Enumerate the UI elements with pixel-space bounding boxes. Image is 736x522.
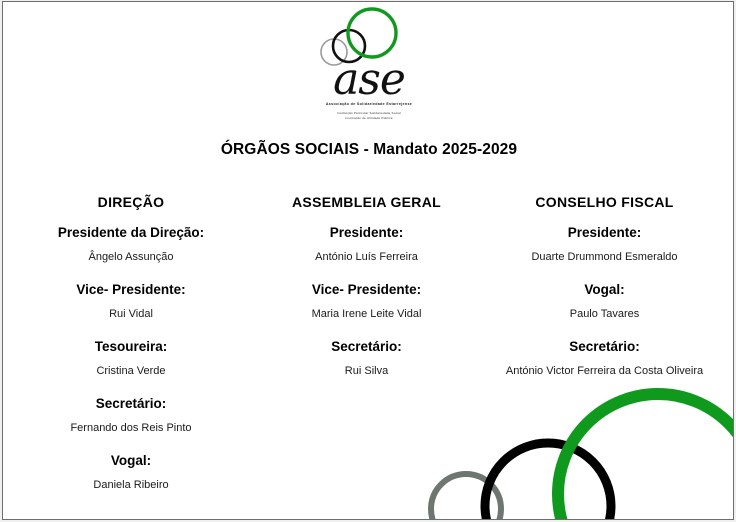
- role-label: Presidente:: [259, 225, 474, 240]
- person-name: Cristina Verde: [3, 365, 259, 377]
- role-entry: Vogal: Daniela Ribeiro: [3, 453, 259, 491]
- role-label: Secretário:: [474, 339, 734, 354]
- role-entry: Secretário: António Victor Ferreira da C…: [474, 339, 734, 377]
- logo-circle-green: [348, 9, 396, 57]
- role-entry: Presidente: António Luís Ferreira: [259, 225, 474, 263]
- organization-logo: ase Associação de Solidariedade Estarrej…: [3, 6, 734, 124]
- column-direcao: DIREÇÃO Presidente da Direção: Ângelo As…: [3, 194, 259, 491]
- person-name: Fernando dos Reis Pinto: [3, 422, 259, 434]
- column-heading: ASSEMBLEIA GERAL: [259, 194, 474, 210]
- person-name: Ângelo Assunção: [3, 251, 259, 263]
- role-entry: Vice- Presidente: Maria Irene Leite Vida…: [259, 282, 474, 320]
- role-label: Tesoureira:: [3, 339, 259, 354]
- column-heading: DIREÇÃO: [3, 194, 259, 210]
- role-label: Secretário:: [3, 396, 259, 411]
- person-name: Daniela Ribeiro: [3, 479, 259, 491]
- logo-wordmark: ase: [333, 58, 405, 102]
- role-entry: Tesoureira: Cristina Verde: [3, 339, 259, 377]
- column-conselho-fiscal: CONSELHO FISCAL Presidente: Duarte Drumm…: [474, 194, 734, 377]
- slide-canvas: ase Associação de Solidariedade Estarrej…: [2, 1, 734, 520]
- logo-subtitle-primary: Associação de Solidariedade Estarrejense: [326, 102, 412, 106]
- role-entry: Presidente: Duarte Drummond Esmeraldo: [474, 225, 734, 263]
- role-label: Vice- Presidente:: [259, 282, 474, 297]
- logo-subtitle-secondary: Instituição Particular Solidariedade Soc…: [337, 111, 401, 120]
- role-entry: Presidente da Direção: Ângelo Assunção: [3, 225, 259, 263]
- organs-columns: DIREÇÃO Presidente da Direção: Ângelo As…: [3, 194, 734, 491]
- role-entry: Secretário: Rui Silva: [259, 339, 474, 377]
- person-name: Duarte Drummond Esmeraldo: [474, 251, 734, 263]
- role-label: Presidente da Direção:: [3, 225, 259, 240]
- person-name: António Victor Ferreira da Costa Oliveir…: [474, 365, 734, 377]
- person-name: Paulo Tavares: [474, 308, 734, 320]
- page-title: ÓRGÃOS SOCIAIS - Mandato 2025-2029: [3, 141, 734, 159]
- role-label: Vice- Presidente:: [3, 282, 259, 297]
- person-name: Rui Vidal: [3, 308, 259, 320]
- role-entry: Secretário: Fernando dos Reis Pinto: [3, 396, 259, 434]
- person-name: Rui Silva: [259, 365, 474, 377]
- role-entry: Vice- Presidente: Rui Vidal: [3, 282, 259, 320]
- role-label: Vogal:: [3, 453, 259, 468]
- role-label: Presidente:: [474, 225, 734, 240]
- column-assembleia-geral: ASSEMBLEIA GERAL Presidente: António Luí…: [259, 194, 474, 377]
- role-label: Secretário:: [259, 339, 474, 354]
- role-entry: Vogal: Paulo Tavares: [474, 282, 734, 320]
- person-name: Maria Irene Leite Vidal: [259, 308, 474, 320]
- person-name: António Luís Ferreira: [259, 251, 474, 263]
- column-heading: CONSELHO FISCAL: [474, 194, 734, 210]
- role-label: Vogal:: [474, 282, 734, 297]
